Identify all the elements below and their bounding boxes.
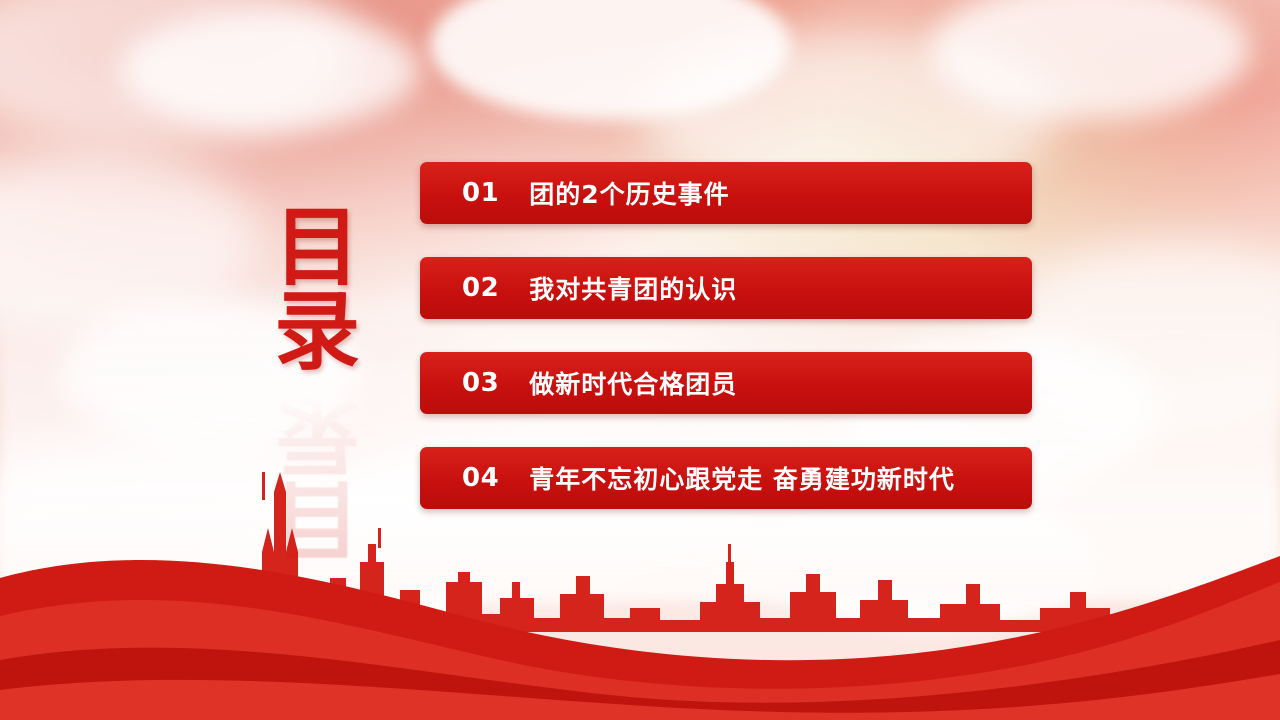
section-title-char-1: 目 (258, 206, 378, 290)
toc-item-02[interactable]: 02 我对共青团的认识 (420, 257, 1032, 319)
presentation-slide: 目 录 目 录 01 团的2个历史事件 02 我对共青团的认识 03 做新时代合… (0, 0, 1280, 720)
toc-item-03-number: 03 (462, 368, 499, 398)
toc-item-04-label: 青年不忘初心跟党走 奋勇建功新时代 (529, 460, 955, 496)
toc-item-04[interactable]: 04 青年不忘初心跟党走 奋勇建功新时代 (420, 447, 1032, 509)
table-of-contents: 01 团的2个历史事件 02 我对共青团的认识 03 做新时代合格团员 04 青… (420, 162, 1032, 542)
toc-item-02-label: 我对共青团的认识 (529, 270, 737, 306)
section-title-char-2: 录 (258, 290, 378, 374)
section-title: 目 录 (258, 206, 378, 375)
toc-item-04-number: 04 (462, 463, 499, 493)
toc-item-01[interactable]: 01 团的2个历史事件 (420, 162, 1032, 224)
toc-item-01-label: 团的2个历史事件 (529, 175, 729, 211)
red-ribbon-decoration (0, 520, 1280, 720)
toc-item-02-number: 02 (462, 273, 499, 303)
toc-item-03[interactable]: 03 做新时代合格团员 (420, 352, 1032, 414)
toc-item-01-number: 01 (462, 178, 499, 208)
toc-item-03-label: 做新时代合格团员 (529, 365, 737, 401)
